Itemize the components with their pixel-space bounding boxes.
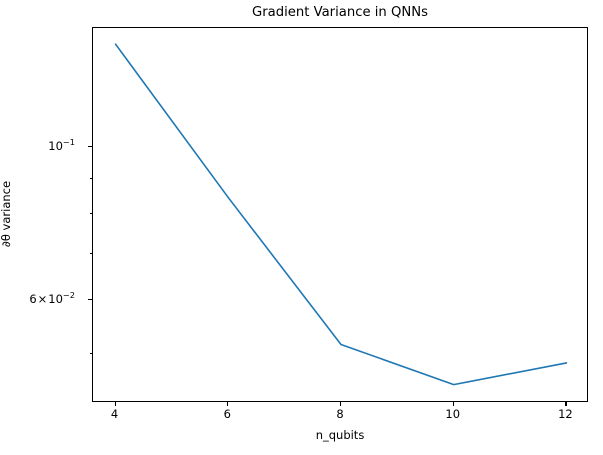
x-ticklabel: 4 <box>111 407 118 421</box>
chart-title: Gradient Variance in QNNs <box>92 5 588 21</box>
x-tickmark <box>227 402 228 406</box>
x-tickmark <box>115 402 116 406</box>
y-tickmark-major <box>88 299 92 300</box>
y-tickmark-minor <box>90 178 93 179</box>
y-tickmark-minor <box>90 213 93 214</box>
x-tickmark <box>565 402 566 406</box>
y-axis-tickmarks <box>86 27 92 402</box>
figure-canvas: Gradient Variance in QNNs 4681012 n_qubi… <box>0 0 603 455</box>
y-ticklabel: 10−1 <box>48 139 75 153</box>
x-tickmark <box>453 402 454 406</box>
x-tickmark <box>340 402 341 406</box>
y-tickmark-major <box>88 146 92 147</box>
x-ticklabel: 12 <box>558 407 573 421</box>
y-tickmark-minor <box>90 353 93 354</box>
data-line-series <box>93 28 589 403</box>
x-ticklabel: 6 <box>224 407 231 421</box>
y-ticklabel: 6×10−2 <box>29 292 75 306</box>
series-polyline <box>116 44 567 384</box>
y-axis-label: ∂θ variance <box>0 181 13 247</box>
plot-area <box>92 27 588 402</box>
x-ticklabel: 10 <box>445 407 460 421</box>
x-ticklabel: 8 <box>336 407 343 421</box>
y-tickmark-minor <box>90 253 93 254</box>
x-axis-label: n_qubits <box>92 428 588 442</box>
x-axis-ticklabels: 4681012 <box>92 407 588 423</box>
